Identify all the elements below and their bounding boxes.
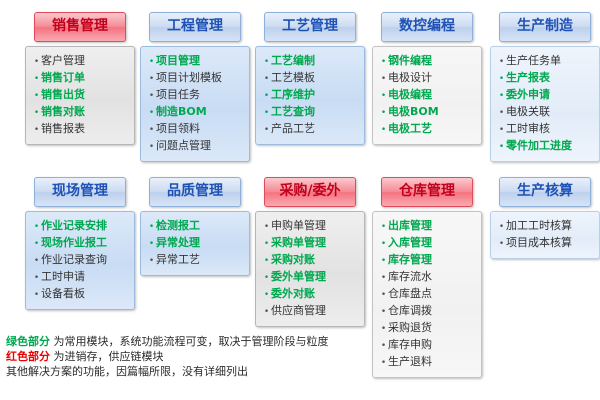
bullet-icon: • — [379, 72, 388, 87]
module-item[interactable]: •电极设计 — [379, 70, 477, 87]
bullet-icon: • — [379, 288, 388, 303]
module-item-label: 项目计划模板 — [156, 70, 222, 85]
bullet-icon: • — [497, 123, 506, 138]
module-item[interactable]: •生产任务单 — [497, 53, 595, 70]
module-item-label: 项目领料 — [156, 121, 200, 136]
bullet-icon: • — [379, 339, 388, 354]
module-item-label: 产品工艺 — [271, 121, 315, 136]
bullet-icon: • — [262, 271, 271, 286]
legend-green-text: 为常用模块，系统功能流程可变，取决于管理阶段与粒度 — [54, 335, 329, 348]
module-item[interactable]: •异常工艺 — [147, 252, 245, 269]
module-item-label: 仓库盘点 — [388, 286, 432, 301]
module-item-label: 电极BOM — [388, 104, 439, 119]
bullet-icon: • — [497, 55, 506, 70]
module-item-label: 委外申请 — [506, 87, 550, 102]
module-item-label: 电极设计 — [388, 70, 432, 85]
module-items-warehouse: •出库管理•入库管理•库存管理•库存流水•仓库盘点•仓库调拨•采购退货•库存申购… — [372, 211, 482, 378]
module-item[interactable]: •采购退货 — [379, 320, 477, 337]
bullet-icon: • — [497, 237, 506, 252]
bullet-icon: • — [32, 106, 41, 121]
module-card-engineering: 工程管理•项目管理•项目计划模板•项目任务•制造BOM•项目领料•问题点管理 — [140, 12, 250, 162]
bullet-icon: • — [147, 123, 156, 138]
bullet-icon: • — [262, 237, 271, 252]
module-item-label: 工时审核 — [506, 121, 550, 136]
bullet-icon: • — [262, 55, 271, 70]
module-item[interactable]: •委外申请 — [497, 87, 595, 104]
module-item-label: 出库管理 — [388, 218, 432, 233]
module-item[interactable]: •库存管理 — [379, 252, 477, 269]
module-item-label: 工艺模板 — [271, 70, 315, 85]
bullet-icon: • — [379, 356, 388, 371]
bullet-icon: • — [262, 305, 271, 320]
bullet-icon: • — [379, 106, 388, 121]
module-item-label: 项目管理 — [156, 53, 200, 68]
module-item[interactable]: •现场作业报工 — [32, 235, 130, 252]
module-item-label: 采购单管理 — [271, 235, 326, 250]
module-header-manufacture[interactable]: 生产制造 — [499, 12, 591, 42]
bullet-icon: • — [32, 55, 41, 70]
module-item[interactable]: •仓库调拨 — [379, 303, 477, 320]
bullet-icon: • — [262, 72, 271, 87]
module-item[interactable]: •采购对账 — [262, 252, 360, 269]
module-item[interactable]: •电极编程 — [379, 87, 477, 104]
module-item[interactable]: •供应商管理 — [262, 303, 360, 320]
module-item[interactable]: •项目计划模板 — [147, 70, 245, 87]
module-item[interactable]: •客户管理 — [32, 53, 130, 70]
module-item-label: 电极关联 — [506, 104, 550, 119]
module-item-label: 作业记录查询 — [41, 252, 107, 267]
module-item[interactable]: •工艺模板 — [262, 70, 360, 87]
module-item[interactable]: •委外对账 — [262, 286, 360, 303]
module-item-label: 库存流水 — [388, 269, 432, 284]
module-item-label: 工序维护 — [271, 87, 315, 102]
bullet-icon: • — [32, 271, 41, 286]
module-header-engineering[interactable]: 工程管理 — [149, 12, 241, 42]
bullet-icon: • — [262, 288, 271, 303]
bullet-icon: • — [379, 305, 388, 320]
module-item-label: 异常处理 — [156, 235, 200, 250]
module-card-purchase: 采购/委外•申购单管理•采购单管理•采购对账•委外单管理•委外对账•供应商管理 — [255, 177, 365, 327]
module-item[interactable]: •工序维护 — [262, 87, 360, 104]
module-item[interactable]: •销售对账 — [32, 104, 130, 121]
module-item[interactable]: •电极工艺 — [379, 121, 477, 138]
module-item[interactable]: •设备看板 — [32, 286, 130, 303]
bullet-icon: • — [262, 254, 271, 269]
bullet-icon: • — [147, 106, 156, 121]
module-header-sales[interactable]: 销售管理 — [34, 12, 126, 42]
bullet-icon: • — [379, 123, 388, 138]
module-item-label: 销售对账 — [41, 104, 85, 119]
module-card-warehouse: 仓库管理•出库管理•入库管理•库存管理•库存流水•仓库盘点•仓库调拨•采购退货•… — [372, 177, 482, 378]
bullet-icon: • — [497, 72, 506, 87]
bullet-icon: • — [147, 220, 156, 235]
module-card-shopfloor: 现场管理•作业记录安排•现场作业报工•作业记录查询•工时申请•设备看板 — [25, 177, 135, 310]
module-item[interactable]: •项目成本核算 — [497, 235, 595, 252]
module-item[interactable]: •项目管理 — [147, 53, 245, 70]
bullet-icon: • — [32, 123, 41, 138]
bullet-icon: • — [32, 89, 41, 104]
module-item[interactable]: •仓库盘点 — [379, 286, 477, 303]
module-item-label: 生产报表 — [506, 70, 550, 85]
module-header-warehouse[interactable]: 仓库管理 — [381, 177, 473, 207]
module-item[interactable]: •生产退料 — [379, 354, 477, 371]
module-item-label: 库存申购 — [388, 337, 432, 352]
module-card-costing: 生产核算•加工工时核算•项目成本核算 — [490, 177, 600, 259]
bullet-icon: • — [32, 254, 41, 269]
module-item[interactable]: •产品工艺 — [262, 121, 360, 138]
module-items-cnc: •钢件编程•电极设计•电极编程•电极BOM•电极工艺 — [372, 46, 482, 145]
module-item[interactable]: •检测报工 — [147, 218, 245, 235]
module-item[interactable]: •电极关联 — [497, 104, 595, 121]
module-header-purchase[interactable]: 采购/委外 — [264, 177, 356, 207]
legend-green-key: 绿色部分 — [6, 335, 50, 348]
module-item-label: 入库管理 — [388, 235, 432, 250]
module-item-label: 采购对账 — [271, 252, 315, 267]
module-item[interactable]: •问题点管理 — [147, 138, 245, 155]
bullet-icon: • — [379, 89, 388, 104]
module-item[interactable]: •销售订单 — [32, 70, 130, 87]
module-item-label: 加工工时核算 — [506, 218, 572, 233]
module-items-sales: •客户管理•销售订单•销售出货•销售对账•销售报表 — [25, 46, 135, 145]
module-item-label: 电极工艺 — [388, 121, 432, 136]
module-item-label: 供应商管理 — [271, 303, 326, 318]
module-items-manufacture: •生产任务单•生产报表•委外申请•电极关联•工时审核•零件加工进度 — [490, 46, 600, 162]
bullet-icon: • — [32, 72, 41, 87]
module-item-label: 采购退货 — [388, 320, 432, 335]
bullet-icon: • — [497, 89, 506, 104]
module-item[interactable]: •工艺查询 — [262, 104, 360, 121]
module-item-label: 委外单管理 — [271, 269, 326, 284]
module-item[interactable]: •制造BOM — [147, 104, 245, 121]
module-item[interactable]: •出库管理 — [379, 218, 477, 235]
legend-note: 其他解决方案的功能，因篇幅所限，没有详细列出 — [6, 364, 329, 379]
module-item[interactable]: •电极BOM — [379, 104, 477, 121]
module-item[interactable]: •销售报表 — [32, 121, 130, 138]
module-items-process: •工艺编制•工艺模板•工序维护•工艺查询•产品工艺 — [255, 46, 365, 145]
module-items-costing: •加工工时核算•项目成本核算 — [490, 211, 600, 259]
module-item-label: 生产退料 — [388, 354, 432, 369]
module-item-label: 项目任务 — [156, 87, 200, 102]
bullet-icon: • — [379, 254, 388, 269]
module-item-label: 销售订单 — [41, 70, 85, 85]
bullet-icon: • — [147, 89, 156, 104]
module-item[interactable]: •作业记录安排 — [32, 218, 130, 235]
module-item-label: 工时申请 — [41, 269, 85, 284]
bullet-icon: • — [379, 271, 388, 286]
module-item[interactable]: •委外单管理 — [262, 269, 360, 286]
module-item-label: 设备看板 — [41, 286, 85, 301]
bullet-icon: • — [32, 288, 41, 303]
module-header-shopfloor[interactable]: 现场管理 — [34, 177, 126, 207]
module-item-label: 作业记录安排 — [41, 218, 107, 233]
module-item-label: 客户管理 — [41, 53, 85, 68]
module-item-label: 申购单管理 — [271, 218, 326, 233]
module-item[interactable]: •工时申请 — [32, 269, 130, 286]
module-item[interactable]: •零件加工进度 — [497, 138, 595, 155]
bullet-icon: • — [262, 106, 271, 121]
module-item[interactable]: •库存申购 — [379, 337, 477, 354]
bullet-icon: • — [32, 220, 41, 235]
module-item-label: 工艺编制 — [271, 53, 315, 68]
module-item-label: 项目成本核算 — [506, 235, 572, 250]
module-item[interactable]: •工艺编制 — [262, 53, 360, 70]
bullet-icon: • — [497, 140, 506, 155]
module-item[interactable]: •作业记录查询 — [32, 252, 130, 269]
module-item[interactable]: •项目领料 — [147, 121, 245, 138]
module-item-label: 异常工艺 — [156, 252, 200, 267]
module-card-manufacture: 生产制造•生产任务单•生产报表•委外申请•电极关联•工时审核•零件加工进度 — [490, 12, 600, 162]
module-card-process: 工艺管理•工艺编制•工艺模板•工序维护•工艺查询•产品工艺 — [255, 12, 365, 145]
module-items-purchase: •申购单管理•采购单管理•采购对账•委外单管理•委外对账•供应商管理 — [255, 211, 365, 327]
module-header-costing[interactable]: 生产核算 — [499, 177, 591, 207]
bullet-icon: • — [32, 237, 41, 252]
module-item[interactable]: •项目任务 — [147, 87, 245, 104]
module-header-quality[interactable]: 品质管理 — [149, 177, 241, 207]
bullet-icon: • — [262, 123, 271, 138]
module-items-engineering: •项目管理•项目计划模板•项目任务•制造BOM•项目领料•问题点管理 — [140, 46, 250, 162]
bullet-icon: • — [147, 254, 156, 269]
module-item-label: 零件加工进度 — [506, 138, 572, 153]
module-item-label: 仓库调拨 — [388, 303, 432, 318]
legend-row-green: 绿色部分 为常用模块，系统功能流程可变，取决于管理阶段与粒度 — [6, 334, 329, 349]
module-item[interactable]: •销售出货 — [32, 87, 130, 104]
bullet-icon: • — [379, 237, 388, 252]
bullet-icon: • — [497, 220, 506, 235]
module-item-label: 库存管理 — [388, 252, 432, 267]
module-item-label: 销售出货 — [41, 87, 85, 102]
module-item-label: 制造BOM — [156, 104, 207, 119]
module-items-shopfloor: •作业记录安排•现场作业报工•作业记录查询•工时申请•设备看板 — [25, 211, 135, 310]
legend-red-key: 红色部分 — [6, 350, 50, 363]
module-item-label: 检测报工 — [156, 218, 200, 233]
bullet-icon: • — [379, 322, 388, 337]
bullet-icon: • — [147, 140, 156, 155]
legend-red-text: 为进销存，供应链模块 — [54, 350, 164, 363]
module-item[interactable]: •生产报表 — [497, 70, 595, 87]
module-card-sales: 销售管理•客户管理•销售订单•销售出货•销售对账•销售报表 — [25, 12, 135, 145]
module-item[interactable]: •库存流水 — [379, 269, 477, 286]
module-item-label: 工艺查询 — [271, 104, 315, 119]
module-item-label: 现场作业报工 — [41, 235, 107, 250]
bullet-icon: • — [147, 55, 156, 70]
bullet-icon: • — [147, 72, 156, 87]
bullet-icon: • — [262, 220, 271, 235]
module-item-label: 电极编程 — [388, 87, 432, 102]
bullet-icon: • — [497, 106, 506, 121]
module-card-quality: 品质管理•检测报工•异常处理•异常工艺 — [140, 177, 250, 276]
module-item-label: 问题点管理 — [156, 138, 211, 153]
module-item[interactable]: •入库管理 — [379, 235, 477, 252]
module-item-label: 钢件编程 — [388, 53, 432, 68]
legend: 绿色部分 为常用模块，系统功能流程可变，取决于管理阶段与粒度 红色部分 为进销存… — [6, 334, 329, 379]
module-item-label: 生产任务单 — [506, 53, 561, 68]
module-items-quality: •检测报工•异常处理•异常工艺 — [140, 211, 250, 276]
bullet-icon: • — [379, 55, 388, 70]
module-item-label: 销售报表 — [41, 121, 85, 136]
module-item[interactable]: •加工工时核算 — [497, 218, 595, 235]
legend-row-red: 红色部分 为进销存，供应链模块 — [6, 349, 329, 364]
bullet-icon: • — [147, 237, 156, 252]
module-item[interactable]: •申购单管理 — [262, 218, 360, 235]
bullet-icon: • — [262, 89, 271, 104]
module-item[interactable]: •异常处理 — [147, 235, 245, 252]
module-header-cnc[interactable]: 数控编程 — [381, 12, 473, 42]
module-header-process[interactable]: 工艺管理 — [264, 12, 356, 42]
module-item[interactable]: •工时审核 — [497, 121, 595, 138]
module-card-cnc: 数控编程•钢件编程•电极设计•电极编程•电极BOM•电极工艺 — [372, 12, 482, 145]
module-item[interactable]: •采购单管理 — [262, 235, 360, 252]
module-item-label: 委外对账 — [271, 286, 315, 301]
module-item[interactable]: •钢件编程 — [379, 53, 477, 70]
bullet-icon: • — [379, 220, 388, 235]
